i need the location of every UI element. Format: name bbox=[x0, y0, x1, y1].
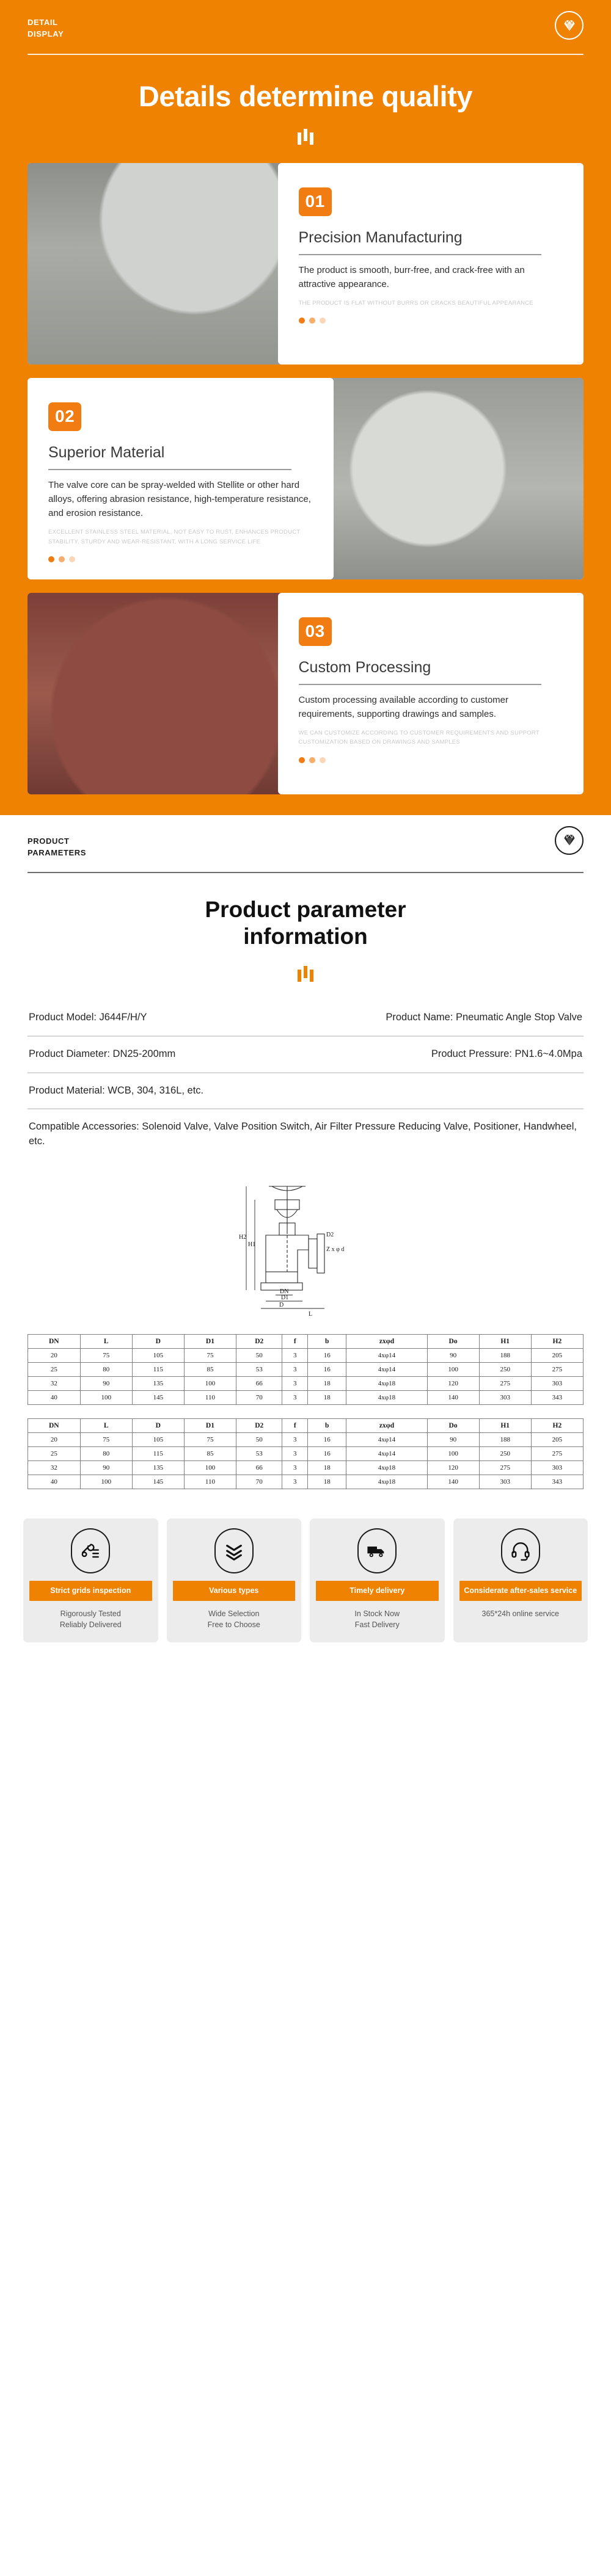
table-header-cell: Do bbox=[427, 1419, 479, 1433]
feature-body: The valve core can be spray-welded with … bbox=[48, 478, 313, 521]
svg-text:H1: H1 bbox=[248, 1241, 255, 1248]
table-row: 207510575503164xφ1490188205 bbox=[28, 1349, 584, 1363]
table-cell: 18 bbox=[308, 1391, 346, 1405]
table-cell: 90 bbox=[427, 1433, 479, 1447]
feature-divider bbox=[48, 469, 291, 470]
table-cell: 18 bbox=[308, 1377, 346, 1391]
detail-header-rule bbox=[27, 54, 584, 55]
service-badge-various-types: Various types Wide Selection Free to Cho… bbox=[167, 1518, 302, 1642]
table-cell: 145 bbox=[132, 1391, 184, 1405]
table-cell: 343 bbox=[531, 1475, 583, 1489]
parameters-title-line1: Product parameter bbox=[205, 897, 406, 922]
table-cell: 303 bbox=[531, 1461, 583, 1475]
table-cell: 100 bbox=[427, 1363, 479, 1377]
headset-icon bbox=[501, 1528, 540, 1573]
feature-divider bbox=[299, 254, 542, 255]
table-cell: 4xφ14 bbox=[346, 1433, 427, 1447]
table-cell: 100 bbox=[80, 1391, 132, 1405]
table-cell: 40 bbox=[28, 1391, 81, 1405]
service-note-line1: In Stock Now bbox=[316, 1608, 439, 1619]
table-header-cell: L bbox=[80, 1419, 132, 1433]
parameters-decoration-mark bbox=[0, 966, 611, 982]
table-row: 207510575503164xφ1490188205 bbox=[28, 1433, 584, 1447]
table-cell: 3 bbox=[282, 1475, 308, 1489]
service-note: 365*24h online service bbox=[459, 1608, 582, 1619]
inspection-icon bbox=[71, 1528, 110, 1573]
table-cell: 250 bbox=[479, 1447, 531, 1461]
parameter-left: Product Diameter: DN25-200mm bbox=[29, 1047, 175, 1062]
table-header-cell: DN bbox=[28, 1335, 81, 1349]
table-cell: 25 bbox=[28, 1363, 81, 1377]
table-cell: 4xφ14 bbox=[346, 1349, 427, 1363]
table-header-cell: D1 bbox=[184, 1335, 236, 1349]
table-cell: 275 bbox=[479, 1461, 531, 1475]
service-note-line2: Free to Choose bbox=[173, 1619, 296, 1630]
parameter-row: Product Model: J644F/H/Y Product Name: P… bbox=[27, 1000, 584, 1037]
feature-number-badge: 01 bbox=[299, 187, 332, 216]
table-cell: 343 bbox=[531, 1391, 583, 1405]
service-tag: Considerate after-sales service bbox=[459, 1581, 582, 1600]
parameter-left: Product Material: WCB, 304, 316L, etc. bbox=[29, 1084, 582, 1098]
table-cell: 275 bbox=[479, 1377, 531, 1391]
table-cell: 80 bbox=[80, 1363, 132, 1377]
table-cell: 90 bbox=[80, 1461, 132, 1475]
feature-caption: WE CAN CUSTOMIZE ACCORDING TO CUSTOMER R… bbox=[299, 728, 563, 747]
detail-kicker-line2: DISPLAY bbox=[27, 29, 584, 40]
table-cell: 275 bbox=[531, 1447, 583, 1461]
service-note-line1: Wide Selection bbox=[173, 1608, 296, 1619]
page-title: Details determine quality bbox=[0, 79, 611, 113]
detail-section-header: DETAIL DISPLAY bbox=[0, 0, 611, 55]
table-cell: 4xφ14 bbox=[346, 1447, 427, 1461]
table-cell: 18 bbox=[308, 1475, 346, 1489]
spec-tables: DNLDD1D2fbzxφdDoH1H2 207510575503164xφ14… bbox=[0, 1326, 611, 1489]
feature-card-panel: 02 Superior Material The valve core can … bbox=[27, 378, 334, 579]
table-cell: 145 bbox=[132, 1475, 184, 1489]
table-header-cell: DN bbox=[28, 1419, 81, 1433]
table-cell: 20 bbox=[28, 1349, 81, 1363]
layers-icon bbox=[214, 1528, 254, 1573]
table-cell: 66 bbox=[236, 1377, 282, 1391]
table-cell: 135 bbox=[132, 1377, 184, 1391]
table-header-cell: H2 bbox=[531, 1419, 583, 1433]
table-cell: 4xφ18 bbox=[346, 1475, 427, 1489]
truck-icon bbox=[357, 1528, 397, 1573]
parameter-left: Compatible Accessories: Solenoid Valve, … bbox=[29, 1120, 582, 1149]
table-cell: 140 bbox=[427, 1391, 479, 1405]
table-cell: 16 bbox=[308, 1433, 346, 1447]
table-header-cell: Do bbox=[427, 1335, 479, 1349]
parameters-title-line2: information bbox=[243, 924, 367, 949]
feature-dots bbox=[299, 317, 563, 324]
table-cell: 110 bbox=[184, 1475, 236, 1489]
table-header-row: DNLDD1D2fbzxφdDoH1H2 bbox=[28, 1419, 584, 1433]
table-cell: 275 bbox=[531, 1363, 583, 1377]
parameters-header-rule bbox=[27, 872, 584, 873]
table-cell: 100 bbox=[427, 1447, 479, 1461]
service-note: In Stock Now Fast Delivery bbox=[316, 1608, 439, 1630]
service-tag: Various types bbox=[173, 1581, 296, 1600]
table-cell: 140 bbox=[427, 1475, 479, 1489]
table-cell: 4xφ14 bbox=[346, 1363, 427, 1377]
svg-text:Z x φ d: Z x φ d bbox=[326, 1246, 344, 1253]
parameter-row: Compatible Accessories: Solenoid Valve, … bbox=[27, 1109, 584, 1159]
table-row: 258011585533164xφ14100250275 bbox=[28, 1447, 584, 1461]
table-cell: 4xφ18 bbox=[346, 1461, 427, 1475]
spec-table-2: DNLDD1D2fbzxφdDoH1H2 207510575503164xφ14… bbox=[27, 1418, 584, 1489]
table-cell: 53 bbox=[236, 1447, 282, 1461]
table-cell: 90 bbox=[427, 1349, 479, 1363]
table-cell: 105 bbox=[132, 1349, 184, 1363]
feature-body: The product is smooth, burr-free, and cr… bbox=[299, 263, 563, 292]
table-cell: 303 bbox=[479, 1475, 531, 1489]
feature-body: Custom processing available according to… bbox=[299, 693, 563, 722]
detail-display-section: DETAIL DISPLAY Details determine quality… bbox=[0, 0, 611, 815]
table-header-cell: D2 bbox=[236, 1419, 282, 1433]
table-cell: 70 bbox=[236, 1391, 282, 1405]
parameters-kicker-line2: PARAMETERS bbox=[27, 847, 584, 859]
service-note-line1: Rigorously Tested bbox=[29, 1608, 152, 1619]
table-cell: 16 bbox=[308, 1447, 346, 1461]
diamond-icon bbox=[555, 826, 584, 855]
table-cell: 3 bbox=[282, 1377, 308, 1391]
feature-caption: THE PRODUCT IS FLAT WITHOUT BURRS OR CRA… bbox=[299, 299, 563, 308]
table-cell: 16 bbox=[308, 1363, 346, 1377]
spec-table-1: DNLDD1D2fbzxφdDoH1H2 207510575503164xφ14… bbox=[27, 1334, 584, 1405]
table-cell: 70 bbox=[236, 1475, 282, 1489]
table-cell: 3 bbox=[282, 1391, 308, 1405]
parameter-row-list: Product Model: J644F/H/Y Product Name: P… bbox=[0, 1000, 611, 1160]
feature-card-list: 01 Precision Manufacturing The product i… bbox=[0, 163, 611, 794]
table-cell: 40 bbox=[28, 1475, 81, 1489]
parameter-right: Product Name: Pneumatic Angle Stop Valve bbox=[386, 1010, 582, 1025]
feature-title: Custom Processing bbox=[299, 658, 563, 677]
table-cell: 205 bbox=[531, 1433, 583, 1447]
table-cell: 205 bbox=[531, 1349, 583, 1363]
table-cell: 75 bbox=[80, 1349, 132, 1363]
table-cell: 80 bbox=[80, 1447, 132, 1461]
table-cell: 3 bbox=[282, 1433, 308, 1447]
table-cell: 303 bbox=[479, 1391, 531, 1405]
parameters-kicker-line1: PRODUCT bbox=[27, 836, 584, 847]
table-cell: 120 bbox=[427, 1377, 479, 1391]
table-cell: 100 bbox=[80, 1475, 132, 1489]
product-parameters-section: PRODUCT PARAMETERS Product parameter inf… bbox=[0, 815, 611, 1679]
table-cell: 53 bbox=[236, 1363, 282, 1377]
table-cell: 50 bbox=[236, 1349, 282, 1363]
table-cell: 303 bbox=[531, 1377, 583, 1391]
table-header-cell: D1 bbox=[184, 1419, 236, 1433]
table-cell: 120 bbox=[427, 1461, 479, 1475]
feature-card-02: 02 Superior Material The valve core can … bbox=[27, 378, 584, 579]
table-cell: 110 bbox=[184, 1391, 236, 1405]
table-cell: 250 bbox=[479, 1363, 531, 1377]
table-row: 258011585533164xφ14100250275 bbox=[28, 1363, 584, 1377]
table-row: 40100145110703184xφ18140303343 bbox=[28, 1475, 584, 1489]
table-header-cell: zxφd bbox=[346, 1419, 427, 1433]
table-header-cell: b bbox=[308, 1335, 346, 1349]
feature-divider bbox=[299, 684, 542, 685]
parameter-row: Product Diameter: DN25-200mm Product Pre… bbox=[27, 1037, 584, 1073]
table-cell: 100 bbox=[184, 1461, 236, 1475]
feature-card-03: 03 Custom Processing Custom processing a… bbox=[27, 593, 584, 794]
svg-text:H2: H2 bbox=[239, 1234, 246, 1241]
service-note-line1: 365*24h online service bbox=[459, 1608, 582, 1619]
table-cell: 90 bbox=[80, 1377, 132, 1391]
table-cell: 32 bbox=[28, 1377, 81, 1391]
title-decoration-mark bbox=[0, 129, 611, 145]
diamond-icon bbox=[555, 11, 584, 40]
feature-number-badge: 03 bbox=[299, 617, 332, 646]
table-cell: 66 bbox=[236, 1461, 282, 1475]
table-cell: 20 bbox=[28, 1433, 81, 1447]
detail-kicker: DETAIL DISPLAY bbox=[27, 17, 584, 40]
table-cell: 85 bbox=[184, 1447, 236, 1461]
svg-text:D2: D2 bbox=[326, 1232, 334, 1238]
table-cell: 4xφ18 bbox=[346, 1391, 427, 1405]
table-cell: 105 bbox=[132, 1433, 184, 1447]
feature-title: Superior Material bbox=[48, 443, 313, 462]
parameters-section-header: PRODUCT PARAMETERS bbox=[0, 815, 611, 874]
service-note-line2: Fast Delivery bbox=[316, 1619, 439, 1630]
feature-number-badge: 02 bbox=[48, 402, 81, 431]
table-row: 3290135100663184xφ18120275303 bbox=[28, 1377, 584, 1391]
table-cell: 3 bbox=[282, 1363, 308, 1377]
table-header-cell: D bbox=[132, 1335, 184, 1349]
table-row: 3290135100663184xφ18120275303 bbox=[28, 1461, 584, 1475]
feature-dots bbox=[299, 757, 563, 763]
table-cell: 18 bbox=[308, 1461, 346, 1475]
table-cell: 135 bbox=[132, 1461, 184, 1475]
service-badge-list: Strict grids inspection Rigorously Teste… bbox=[0, 1503, 611, 1661]
table-cell: 115 bbox=[132, 1363, 184, 1377]
feature-card-panel: 03 Custom Processing Custom processing a… bbox=[278, 593, 584, 794]
feature-card-01: 01 Precision Manufacturing The product i… bbox=[27, 163, 584, 365]
service-note-line2: Reliably Delivered bbox=[29, 1619, 152, 1630]
table-cell: 188 bbox=[479, 1433, 531, 1447]
table-header-cell: D bbox=[132, 1419, 184, 1433]
svg-text:D: D bbox=[279, 1302, 284, 1308]
table-cell: 16 bbox=[308, 1349, 346, 1363]
service-badge-after-sales: Considerate after-sales service 365*24h … bbox=[453, 1518, 588, 1642]
table-cell: 115 bbox=[132, 1447, 184, 1461]
table-cell: 85 bbox=[184, 1363, 236, 1377]
detail-kicker-line1: DETAIL bbox=[27, 17, 584, 29]
parameters-kicker: PRODUCT PARAMETERS bbox=[27, 836, 584, 859]
parameter-right: Product Pressure: PN1.6~4.0Mpa bbox=[431, 1047, 582, 1062]
table-row: 40100145110703184xφ18140303343 bbox=[28, 1391, 584, 1405]
table-header-cell: H1 bbox=[479, 1419, 531, 1433]
table-header-cell: H2 bbox=[531, 1335, 583, 1349]
service-badge-timely-delivery: Timely delivery In Stock Now Fast Delive… bbox=[310, 1518, 445, 1642]
table-cell: 3 bbox=[282, 1349, 308, 1363]
parameter-left: Product Model: J644F/H/Y bbox=[29, 1010, 147, 1025]
feature-card-panel: 01 Precision Manufacturing The product i… bbox=[278, 163, 584, 365]
table-cell: 75 bbox=[80, 1433, 132, 1447]
table-cell: 32 bbox=[28, 1461, 81, 1475]
table-cell: 50 bbox=[236, 1433, 282, 1447]
table-header-cell: f bbox=[282, 1335, 308, 1349]
table-cell: 3 bbox=[282, 1461, 308, 1475]
table-header-row: DNLDD1D2fbzxφdDoH1H2 bbox=[28, 1335, 584, 1349]
table-cell: 25 bbox=[28, 1447, 81, 1461]
table-header-cell: D2 bbox=[236, 1335, 282, 1349]
svg-text:D1: D1 bbox=[281, 1294, 288, 1301]
feature-dots bbox=[48, 556, 313, 562]
table-cell: 3 bbox=[282, 1447, 308, 1461]
table-cell: 100 bbox=[184, 1377, 236, 1391]
feature-caption: EXCELLENT STAINLESS STEEL MATERIAL, NOT … bbox=[48, 528, 313, 546]
svg-text:L: L bbox=[309, 1311, 312, 1318]
service-badge-inspection: Strict grids inspection Rigorously Teste… bbox=[23, 1518, 158, 1642]
table-cell: 188 bbox=[479, 1349, 531, 1363]
service-tag: Timely delivery bbox=[316, 1581, 439, 1600]
parameters-title: Product parameter information bbox=[0, 896, 611, 949]
table-cell: 75 bbox=[184, 1349, 236, 1363]
parameter-row: Product Material: WCB, 304, 316L, etc. bbox=[27, 1073, 584, 1110]
technical-drawing: H2 H1 Z x φ d D2 DN D1 D L bbox=[0, 1159, 611, 1326]
service-note: Wide Selection Free to Choose bbox=[173, 1608, 296, 1630]
feature-title: Precision Manufacturing bbox=[299, 228, 563, 247]
table-header-cell: f bbox=[282, 1419, 308, 1433]
table-header-cell: zxφd bbox=[346, 1335, 427, 1349]
table-header-cell: H1 bbox=[479, 1335, 531, 1349]
table-header-cell: b bbox=[308, 1419, 346, 1433]
table-cell: 4xφ18 bbox=[346, 1377, 427, 1391]
service-tag: Strict grids inspection bbox=[29, 1581, 152, 1600]
service-note: Rigorously Tested Reliably Delivered bbox=[29, 1608, 152, 1630]
table-header-cell: L bbox=[80, 1335, 132, 1349]
table-cell: 75 bbox=[184, 1433, 236, 1447]
